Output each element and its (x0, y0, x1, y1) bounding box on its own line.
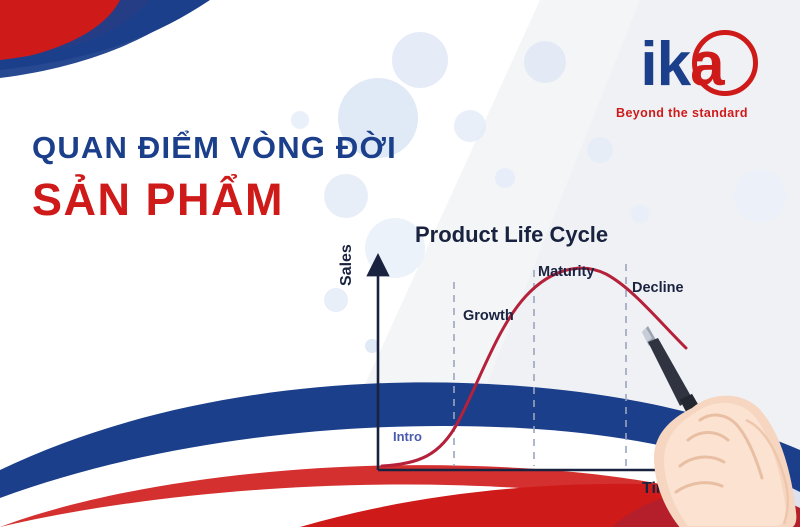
stage-label-intro: Intro (393, 429, 422, 444)
poster-canvas: QUAN ĐIỂM VÒNG ĐỜI SẢN PHẨM ika Beyond t… (0, 0, 800, 527)
y-axis-label: Sales (338, 244, 356, 286)
logo-mark: ika (602, 26, 762, 104)
logo-text-main: ik (640, 30, 690, 99)
stage-label-growth: Growth (463, 308, 514, 324)
logo-tagline: Beyond the standard (602, 106, 762, 120)
stage-label-maturity: Maturity (538, 264, 594, 280)
logo-ring-icon (692, 30, 758, 96)
headline-line-1: QUAN ĐIỂM VÒNG ĐỜI (32, 130, 432, 166)
brand-logo: ika Beyond the standard (602, 26, 762, 120)
hand-with-pen-illustration (596, 280, 800, 527)
hand-shape (654, 396, 796, 527)
